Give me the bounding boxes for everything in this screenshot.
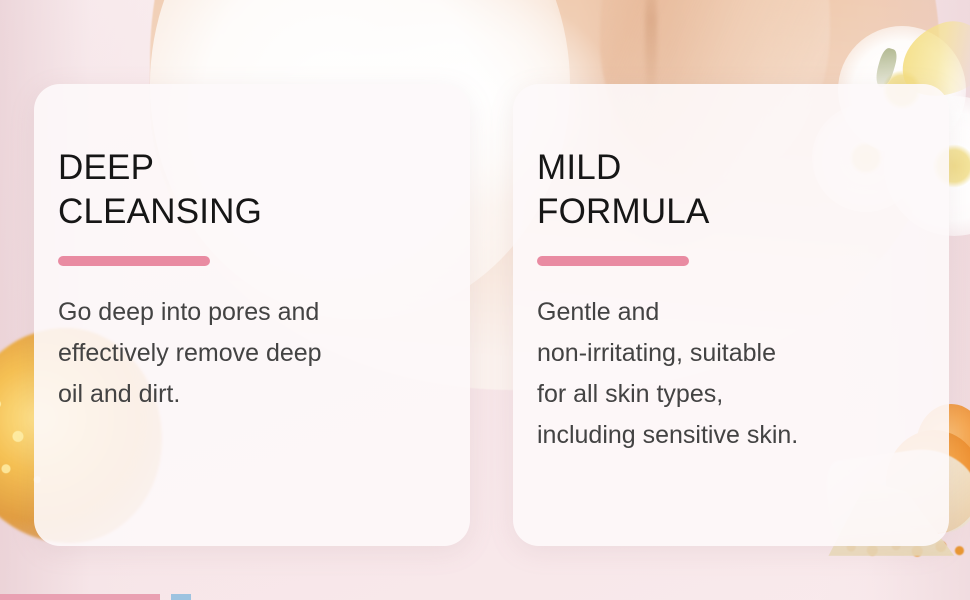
feature-card-description: Gentle and non-irritating, suitable for … (537, 292, 909, 456)
bottom-accent-bar (0, 594, 160, 600)
bottom-accent-chip (171, 594, 191, 600)
product-feature-banner: DEEP CLEANSING Go deep into pores and ef… (0, 0, 970, 600)
feature-card-mild-formula: MILD FORMULA Gentle and non-irritating, … (513, 84, 949, 546)
feature-card-title: MILD FORMULA (537, 146, 909, 234)
feature-card-title: DEEP CLEANSING (58, 146, 430, 234)
feature-card-deep-cleansing: DEEP CLEANSING Go deep into pores and ef… (34, 84, 470, 546)
accent-divider (537, 256, 689, 266)
daisy-stem-icon (873, 47, 899, 90)
feature-card-description: Go deep into pores and effectively remov… (58, 292, 430, 415)
accent-divider (58, 256, 210, 266)
